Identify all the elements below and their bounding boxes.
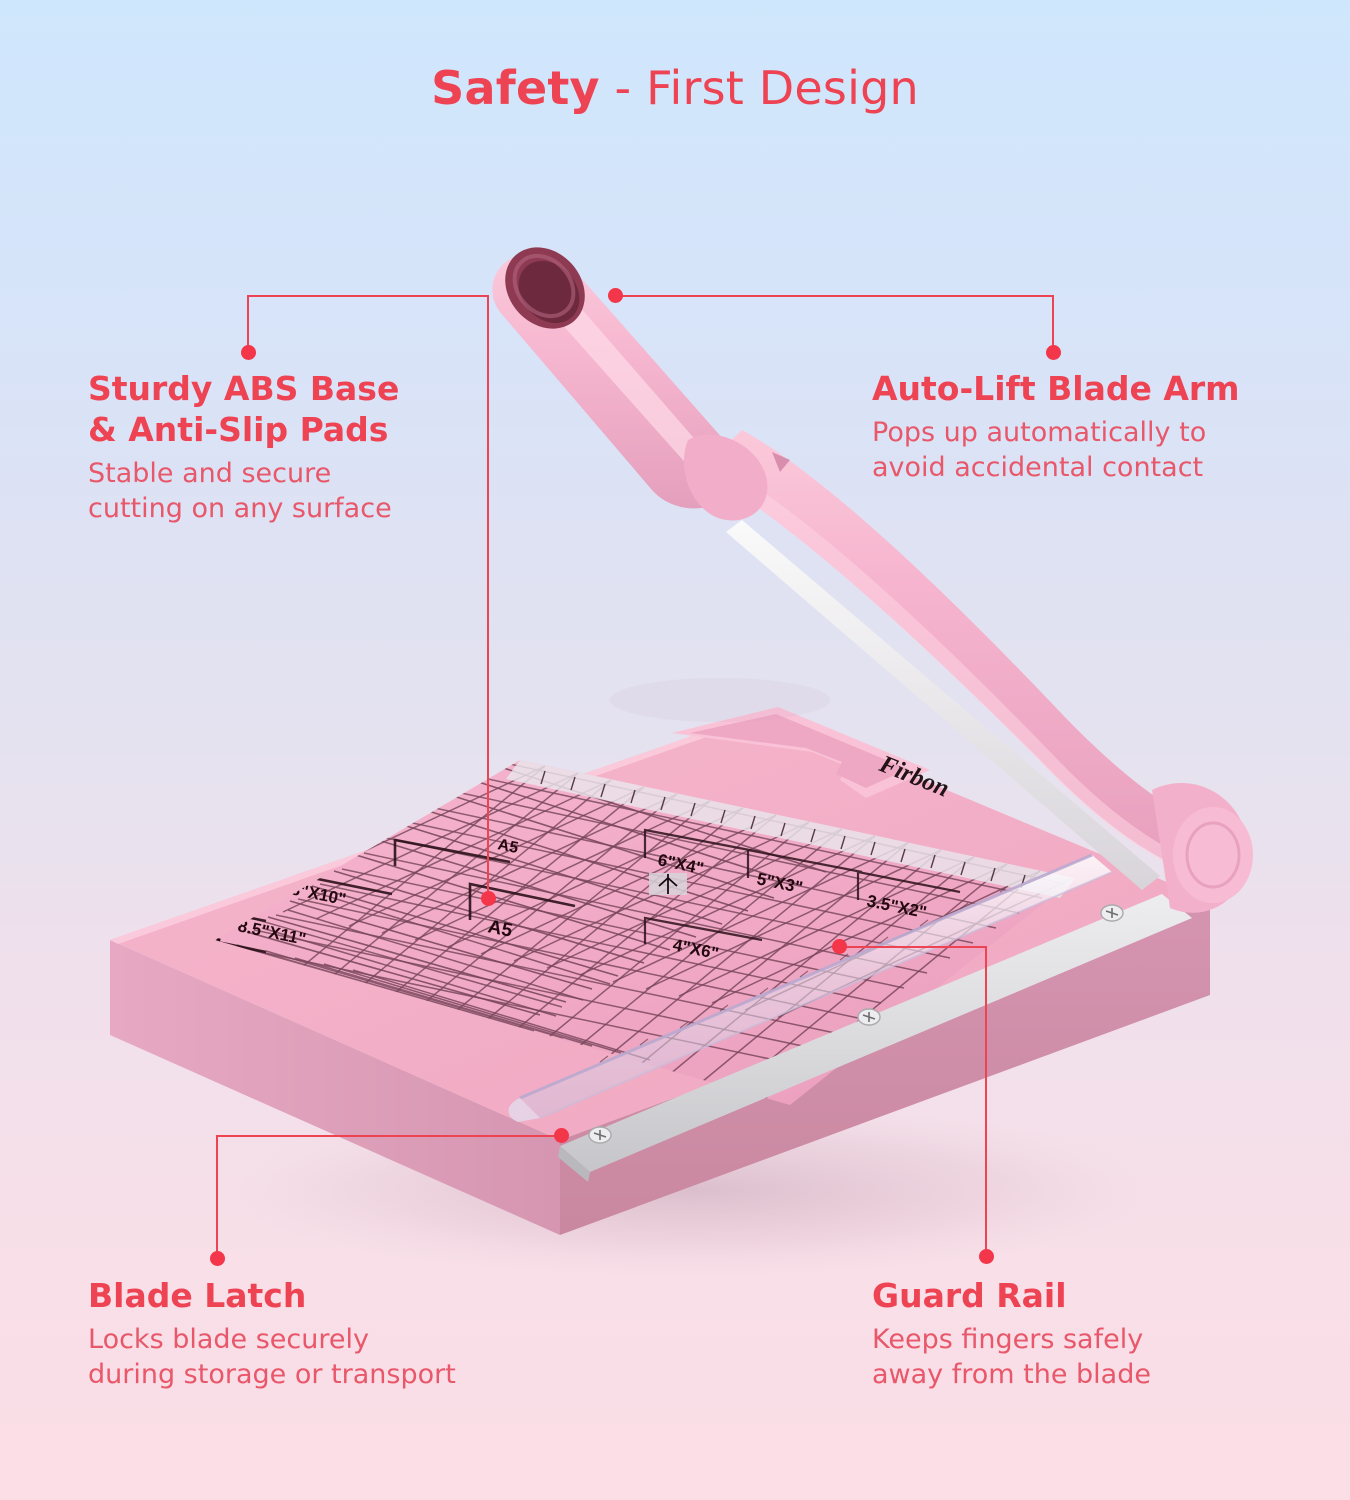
callout-dot-auto-lift-label [1046, 345, 1061, 360]
callout-sturdy-abs-base: Sturdy ABS Base & Anti-Slip Pads Stable … [88, 368, 518, 526]
callout-title-sturdy-abs-base: Sturdy ABS Base & Anti-Slip Pads [88, 368, 518, 450]
leader-line-guard-rail-h [838, 946, 986, 948]
callout-guard-rail: Guard Rail Keeps fingers safely away fro… [872, 1275, 1302, 1392]
callout-dot-sturdy-abs-base-label [241, 345, 256, 360]
callout-blade-latch: Blade Latch Locks blade securely during … [88, 1275, 558, 1392]
callout-desc-blade-latch: Locks blade securely during storage or t… [88, 1322, 558, 1392]
callout-desc-auto-lift-blade-arm: Pops up automatically to avoid accidenta… [872, 415, 1302, 485]
callout-auto-lift-blade-arm: Auto-Lift Blade Arm Pops up automaticall… [872, 368, 1302, 485]
callout-dot-guard-rail-label [979, 1249, 994, 1264]
callout-title-auto-lift-blade-arm: Auto-Lift Blade Arm [872, 368, 1302, 409]
callout-title-blade-latch: Blade Latch [88, 1275, 558, 1316]
callout-dot-guard-rail-target [832, 939, 847, 954]
leader-line-blade-latch-v [216, 1135, 218, 1258]
leader-line-auto-lift-h [614, 295, 1054, 297]
callout-dot-sturdy-abs-base-target [481, 891, 496, 906]
leader-line-sturdy-abs-base-h [247, 295, 489, 297]
leader-line-blade-latch-h [216, 1135, 561, 1137]
callout-title-guard-rail: Guard Rail [872, 1275, 1302, 1316]
blade-arm-handle [489, 231, 790, 520]
callout-desc-sturdy-abs-base: Stable and secure cutting on any surface [88, 456, 518, 526]
infographic-canvas: Safety - First Design [0, 0, 1350, 1500]
callout-dot-auto-lift-target [608, 288, 623, 303]
callout-dot-blade-latch-label [210, 1251, 225, 1266]
leader-line-guard-rail-v [985, 946, 987, 1256]
callout-dot-blade-latch-target [554, 1128, 569, 1143]
callout-desc-guard-rail: Keeps fingers safely away from the blade [872, 1322, 1302, 1392]
